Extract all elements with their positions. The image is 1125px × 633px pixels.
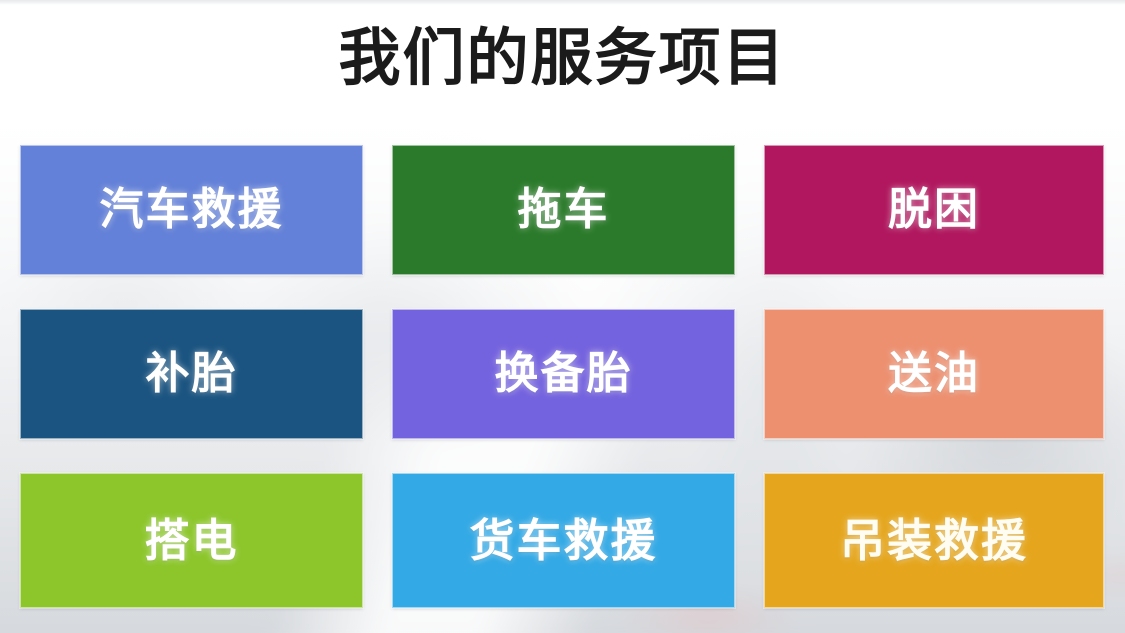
service-tile-label: 汽车救援 [100, 188, 284, 232]
service-tile[interactable]: 拖车 [392, 145, 735, 275]
service-tile[interactable]: 送油 [764, 309, 1104, 439]
service-tile[interactable]: 吊装救援 [764, 473, 1104, 608]
service-tile[interactable]: 补胎 [20, 309, 363, 439]
service-tile[interactable]: 搭电 [20, 473, 363, 608]
service-tile-label: 货车救援 [469, 518, 657, 563]
service-menu-slide: 我们的服务项目 汽车救援拖车脱困补胎换备胎送油搭电货车救援吊装救援 [0, 0, 1125, 633]
service-tile[interactable]: 换备胎 [392, 309, 735, 439]
service-tile[interactable]: 货车救援 [392, 473, 735, 608]
service-tile[interactable]: 汽车救援 [20, 145, 363, 275]
service-tile-label: 补胎 [146, 352, 238, 396]
service-tile-grid: 汽车救援拖车脱困补胎换备胎送油搭电货车救援吊装救援 [20, 145, 1105, 613]
service-tile-label: 吊装救援 [840, 518, 1028, 563]
service-tile-label: 换备胎 [495, 352, 633, 396]
page-title: 我们的服务项目 [0, 22, 1125, 96]
service-tile-label: 搭电 [144, 518, 238, 563]
service-tile-label: 送油 [888, 352, 980, 396]
service-tile-label: 脱困 [888, 188, 980, 232]
top-edge-divider [0, 0, 1125, 5]
service-tile[interactable]: 脱困 [764, 145, 1104, 275]
service-tile-label: 拖车 [518, 188, 610, 232]
